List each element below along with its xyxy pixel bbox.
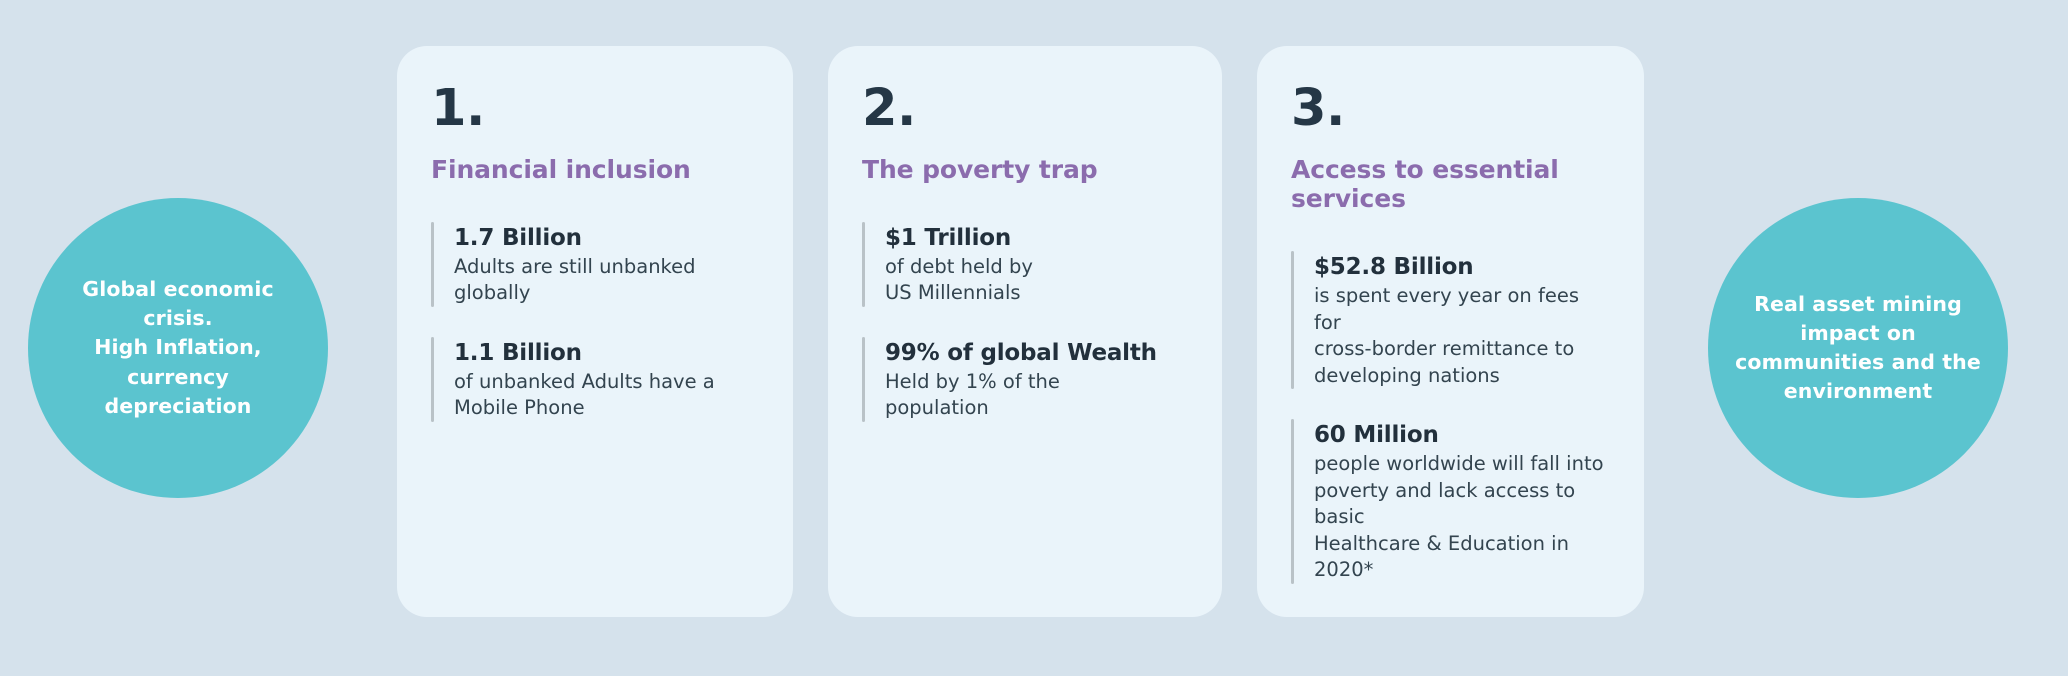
card-title: The poverty trap (862, 155, 1188, 184)
stat-rule-bar (1291, 419, 1294, 584)
stat-item: 1.1 Billion of unbanked Adults have a Mo… (431, 337, 759, 422)
stat-item: $1 Trillion of debt held by US Millennia… (862, 222, 1188, 307)
stat-body: 1.1 Billion of unbanked Adults have a Mo… (454, 337, 715, 422)
stat-rule-bar (862, 337, 865, 422)
card-number: 3. (1291, 82, 1610, 136)
stat-rule-bar (431, 337, 434, 422)
stat-value: $52.8 Billion (1314, 253, 1610, 281)
stat-value: 99% of global Wealth (885, 339, 1157, 367)
left-highlight-circle: Global economic crisis. High Inflation, … (28, 198, 328, 498)
stat-item: $52.8 Billion is spent every year on fee… (1291, 251, 1610, 389)
stats-list: $52.8 Billion is spent every year on fee… (1291, 251, 1610, 584)
stat-value: 60 Million (1314, 421, 1610, 449)
stat-item: 1.7 Billion Adults are still unbanked gl… (431, 222, 759, 307)
stat-description: Held by 1% of the population (885, 369, 1157, 422)
card-financial-inclusion[interactable]: 1. Financial inclusion 1.7 Billion Adult… (397, 46, 793, 617)
card-access-to-essential-services[interactable]: 3. Access to essential services $52.8 Bi… (1257, 46, 1644, 617)
stat-body: 99% of global Wealth Held by 1% of the p… (885, 337, 1157, 422)
stat-rule-bar (1291, 251, 1294, 389)
card-poverty-trap[interactable]: 2. The poverty trap $1 Trillion of debt … (828, 46, 1222, 617)
stat-body: 60 Million people worldwide will fall in… (1314, 419, 1610, 584)
stat-value: $1 Trillion (885, 224, 1033, 252)
right-circle-text: Real asset mining impact on communities … (1709, 290, 2007, 406)
stat-body: $1 Trillion of debt held by US Millennia… (885, 222, 1033, 307)
stat-rule-bar (862, 222, 865, 307)
stats-list: 1.7 Billion Adults are still unbanked gl… (431, 222, 759, 422)
card-title: Financial inclusion (431, 155, 759, 184)
stat-body: 1.7 Billion Adults are still unbanked gl… (454, 222, 696, 307)
card-title: Access to essential services (1291, 155, 1610, 214)
card-number: 1. (431, 82, 759, 136)
stat-description: of debt held by US Millennials (885, 254, 1033, 307)
right-highlight-circle: Real asset mining impact on communities … (1708, 198, 2008, 498)
stat-description: is spent every year on fees for cross-bo… (1314, 283, 1610, 389)
stat-description: people worldwide will fall into poverty … (1314, 451, 1610, 584)
left-circle-text: Global economic crisis. High Inflation, … (56, 275, 299, 421)
stat-body: $52.8 Billion is spent every year on fee… (1314, 251, 1610, 389)
stat-description: of unbanked Adults have a Mobile Phone (454, 369, 715, 422)
stat-rule-bar (431, 222, 434, 307)
stat-description: Adults are still unbanked globally (454, 254, 696, 307)
stats-list: $1 Trillion of debt held by US Millennia… (862, 222, 1188, 422)
stat-item: 60 Million people worldwide will fall in… (1291, 419, 1610, 584)
stat-value: 1.7 Billion (454, 224, 696, 252)
stat-value: 1.1 Billion (454, 339, 715, 367)
cards-container: 1. Financial inclusion 1.7 Billion Adult… (397, 46, 1644, 617)
stat-item: 99% of global Wealth Held by 1% of the p… (862, 337, 1188, 422)
card-number: 2. (862, 82, 1188, 136)
